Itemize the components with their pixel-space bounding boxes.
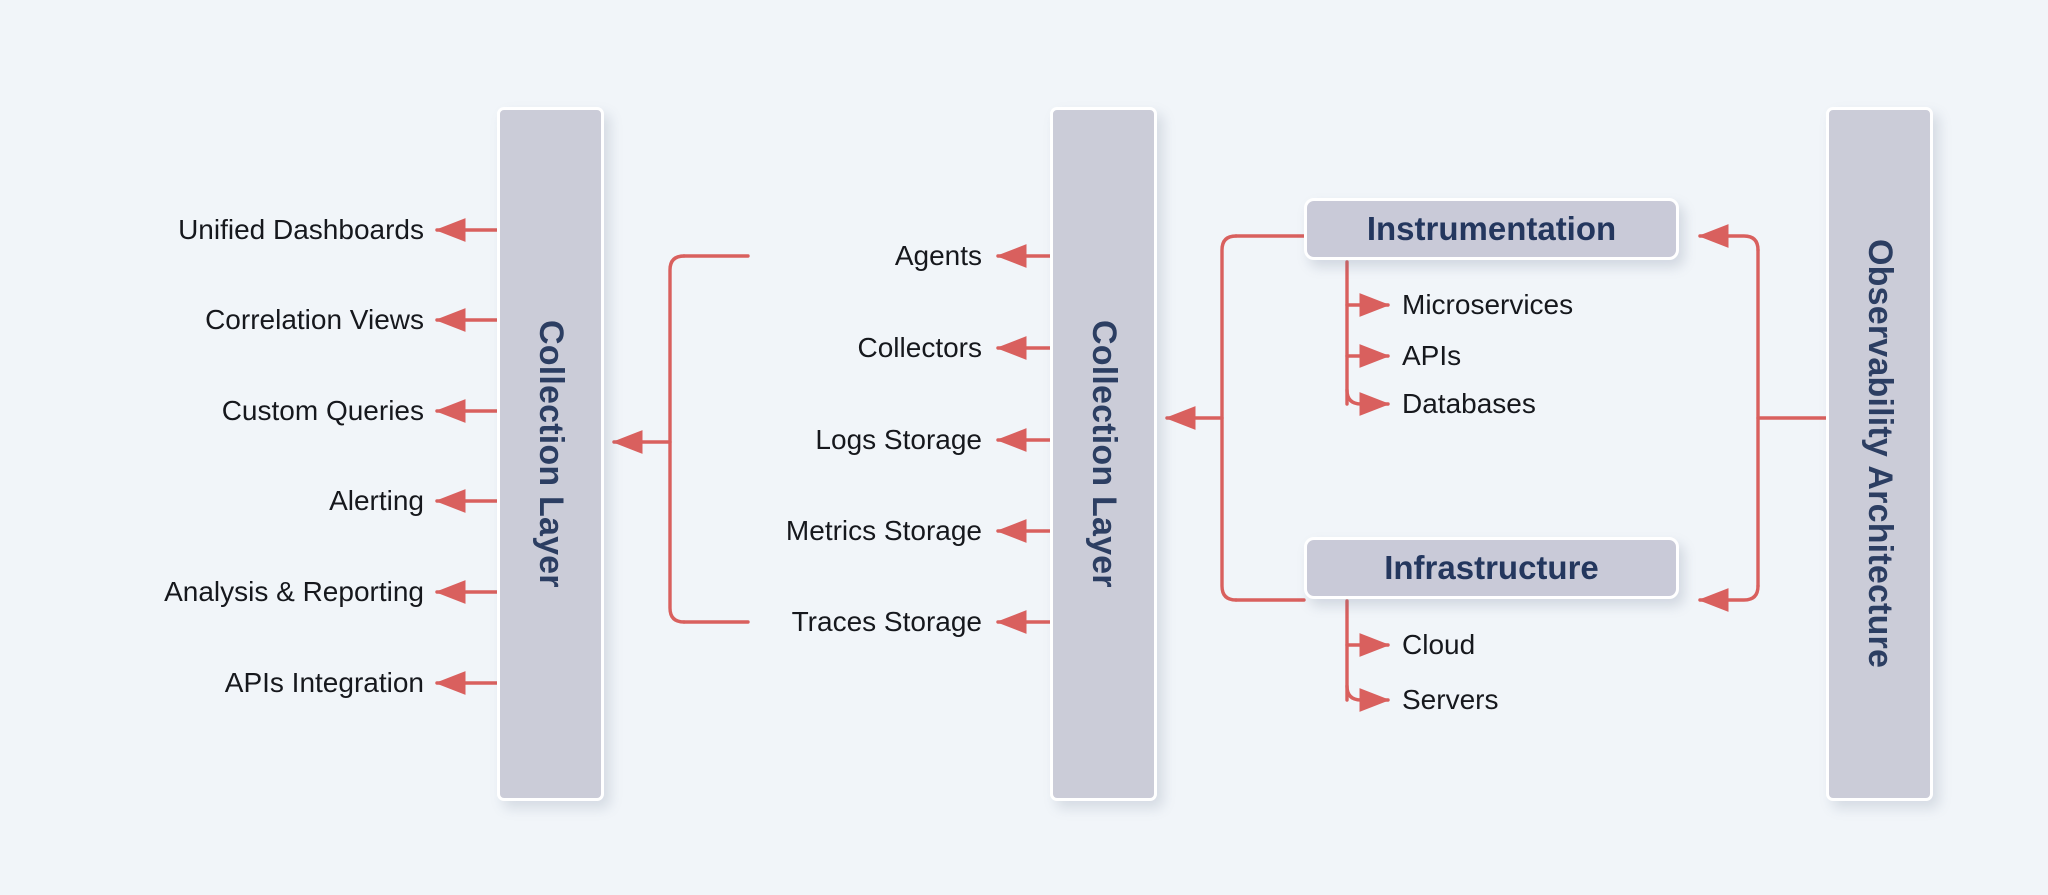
lane-observability-architecture[interactable]: Observability Architecture [1826, 107, 1933, 801]
node-infrastructure[interactable]: Infrastructure [1304, 537, 1679, 599]
node-instrumentation[interactable]: Instrumentation [1304, 198, 1679, 260]
leaf-collectors[interactable]: Collectors [858, 334, 982, 362]
lane-collection-layer-middle[interactable]: Collection Layer [1050, 107, 1157, 801]
leaf-microservices[interactable]: Microservices [1402, 291, 1573, 319]
lane-middle-label: Collection Layer [1084, 320, 1123, 588]
leaf-correlation-views[interactable]: Correlation Views [205, 306, 424, 334]
leaf-traces-storage[interactable]: Traces Storage [792, 608, 982, 636]
leaf-analysis-reporting[interactable]: Analysis & Reporting [164, 578, 424, 606]
leaf-databases[interactable]: Databases [1402, 390, 1536, 418]
connector-layer [0, 0, 2048, 895]
leaf-agents[interactable]: Agents [895, 242, 982, 270]
leaf-logs-storage[interactable]: Logs Storage [815, 426, 982, 454]
root-title-label: Observability Architecture [1860, 239, 1899, 668]
leaf-metrics-storage[interactable]: Metrics Storage [786, 517, 982, 545]
leaf-cloud[interactable]: Cloud [1402, 631, 1475, 659]
node-infrastructure-label: Infrastructure [1384, 549, 1599, 587]
wire-mid-spine [1222, 236, 1236, 600]
wire-spine-to-instrumentation [1700, 236, 1758, 250]
leaf-custom-queries[interactable]: Custom Queries [222, 397, 424, 425]
node-instrumentation-label: Instrumentation [1367, 210, 1616, 248]
diagram-canvas: Collection Layer Collection Layer Observ… [0, 0, 2048, 895]
wire-left-spine [670, 256, 684, 622]
leaf-apis[interactable]: APIs [1402, 342, 1461, 370]
leaf-alerting[interactable]: Alerting [329, 487, 424, 515]
wire-instrumentation-to-databases [1347, 390, 1388, 404]
lane-left-label: Collection Layer [531, 320, 570, 588]
lane-collection-layer-left[interactable]: Collection Layer [497, 107, 604, 801]
leaf-servers[interactable]: Servers [1402, 686, 1498, 714]
wire-infrastructure-to-servers [1347, 686, 1388, 700]
wire-spine-to-infrastructure [1700, 586, 1758, 600]
leaf-apis-integration[interactable]: APIs Integration [225, 669, 424, 697]
leaf-unified-dashboards[interactable]: Unified Dashboards [178, 216, 424, 244]
